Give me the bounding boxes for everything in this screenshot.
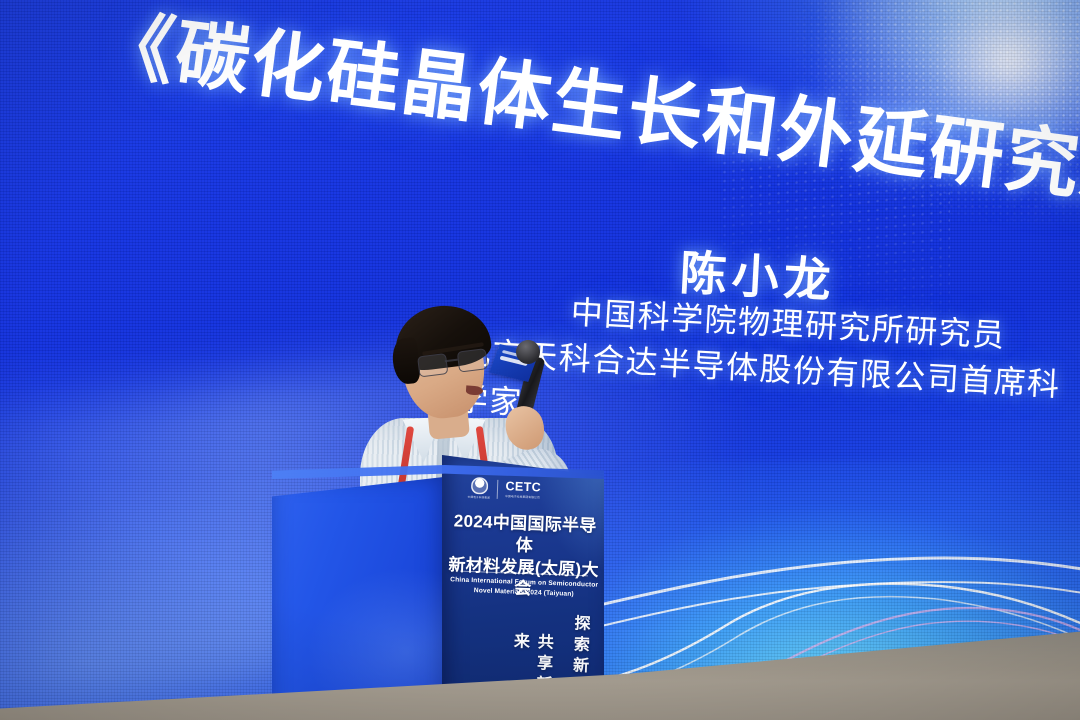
jmeg-logo-sub: 中国电子科技集团	[468, 495, 490, 500]
cetc-logo-word: CETC	[505, 480, 541, 494]
podium-top-surface	[272, 465, 604, 479]
lens-right	[457, 348, 488, 372]
jmeg-mark-icon	[470, 477, 488, 495]
cetc-logo-icon: CETC 中国电子科技集团有限公司	[505, 480, 541, 499]
cetc-logo-sub: 中国电子科技集团有限公司	[505, 494, 541, 499]
podium-side-panel	[272, 477, 444, 720]
jmeg-logo-icon: 中国电子科技集团	[468, 477, 491, 500]
podium-logo-row: 中国电子科技集团 CETC 中国电子科技集团有限公司	[468, 475, 589, 505]
glasses-bridge	[445, 359, 458, 362]
podium-title-line-1: 2024中国国际半导体	[448, 510, 601, 559]
mouth	[466, 385, 484, 395]
lens-left	[417, 353, 448, 377]
logo-divider	[497, 479, 499, 498]
conference-photo: 《碳化硅晶体生长和外延研究及产业化 陈小龙 中国科学院物理研究所研究员 北京天科…	[0, 0, 1080, 720]
